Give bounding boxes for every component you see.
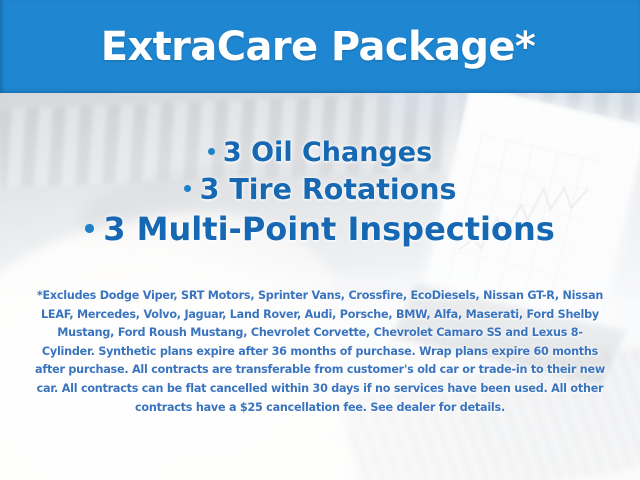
benefit-label: 3 Oil Changes <box>223 137 432 168</box>
bullet-dot-icon <box>184 185 192 193</box>
header-banner: ExtraCare Package* <box>0 0 640 93</box>
bullet-dot-icon <box>208 148 215 155</box>
list-item: 3 Tire Rotations <box>0 174 640 205</box>
benefits-list: 3 Oil Changes 3 Tire Rotations 3 Multi-P… <box>0 138 640 247</box>
extracare-package-ad: ExtraCare Package* 3 Oil Changes 3 Tire … <box>0 0 640 480</box>
benefit-label: 3 Tire Rotations <box>200 173 457 206</box>
disclaimer-text: *Excludes Dodge Viper, SRT Motors, Sprin… <box>32 286 607 416</box>
list-item: 3 Oil Changes <box>0 138 640 168</box>
bullet-dot-icon <box>85 224 94 233</box>
page-title: ExtraCare Package* <box>101 24 536 70</box>
benefit-label: 3 Multi-Point Inspections <box>103 210 555 248</box>
list-item: 3 Multi-Point Inspections <box>0 212 640 247</box>
